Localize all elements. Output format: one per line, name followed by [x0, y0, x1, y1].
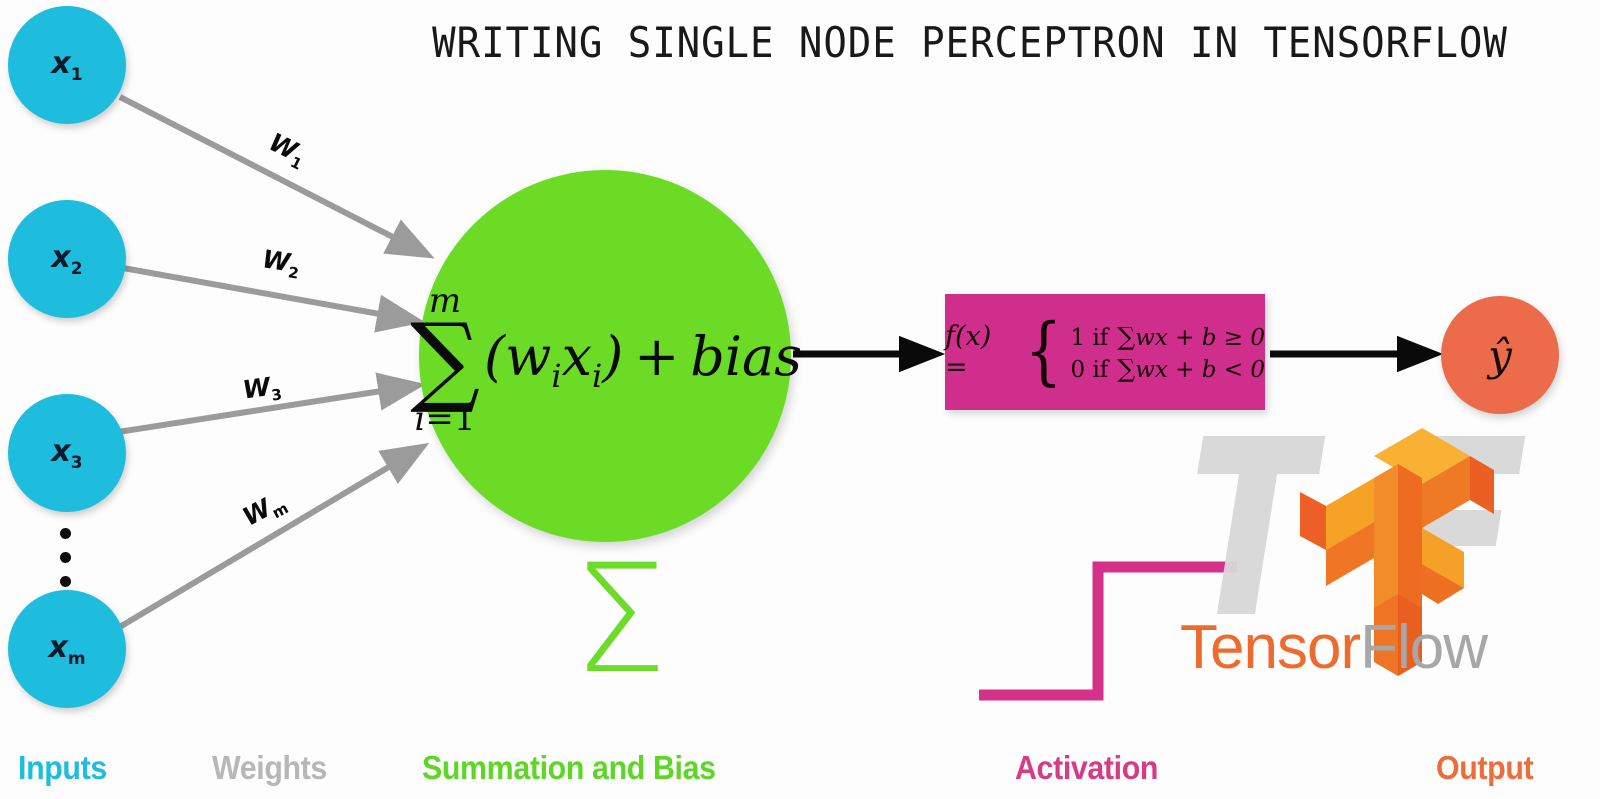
legend-summation: Summation and Bias — [422, 749, 716, 787]
weight-label-w3: W3 — [241, 371, 283, 409]
weight-label-w2: W2 — [260, 244, 303, 283]
activation-fx-label: f(x) = — [945, 321, 1014, 383]
input-node-x1-label: x1 — [51, 46, 82, 85]
sigma-operator: m ∑ i=1 — [408, 318, 482, 402]
big-sigma-icon: Σ — [520, 545, 720, 695]
summation-node[interactable]: m ∑ i=1 (wixi) + bias — [419, 170, 791, 542]
activation-cases: 1 if ∑wx + b ≥ 0 0 if ∑wx + b < 0 — [1070, 322, 1265, 383]
summation-formula: m ∑ i=1 (wixi) + bias — [408, 318, 802, 402]
input-node-xm-label: xm — [48, 630, 85, 669]
perceptron-diagram: WRITING SINGLE NODE PERCEPTRON IN TENSOR… — [0, 0, 1600, 799]
legend-inputs: Inputs — [18, 749, 107, 787]
activation-case-1: 1 if ∑wx + b ≥ 0 — [1070, 322, 1265, 351]
activation-case-2: 0 if ∑wx + b < 0 — [1070, 354, 1265, 383]
weight-arrow-1 — [120, 97, 424, 253]
input-node-x3-label: x3 — [51, 434, 82, 473]
input-node-xm[interactable]: xm — [8, 590, 126, 708]
sigma-lower-limit: i=1 — [415, 402, 476, 436]
sigma-upper-limit: m — [429, 284, 461, 318]
input-node-x2[interactable]: x2 — [8, 200, 126, 318]
legend-activation: Activation — [1015, 749, 1158, 787]
weight-arrow-m — [118, 449, 419, 628]
vertical-ellipsis-icon — [60, 528, 71, 587]
weight-arrow-group — [118, 97, 424, 628]
legend-weights: Weights — [212, 749, 327, 787]
input-node-x1[interactable]: x1 — [8, 6, 126, 124]
input-node-x2-label: x2 — [51, 240, 82, 279]
summation-expression: (wixi) + bias — [484, 325, 802, 395]
output-node[interactable]: ŷ — [1441, 296, 1559, 414]
output-node-label: ŷ — [1488, 331, 1512, 380]
legend-output: Output — [1436, 749, 1533, 787]
activation-brace: { — [1025, 322, 1063, 381]
tensorflow-wordmark: TensorFlow — [1180, 612, 1580, 683]
activation-function-box[interactable]: f(x) = { 1 if ∑wx + b ≥ 0 0 if ∑wx + b <… — [945, 294, 1265, 410]
tensorflow-wordmark-tensor: Tensor — [1180, 613, 1360, 682]
tensorflow-wordmark-flow: Flow — [1360, 613, 1487, 682]
input-node-x3[interactable]: x3 — [8, 394, 126, 512]
